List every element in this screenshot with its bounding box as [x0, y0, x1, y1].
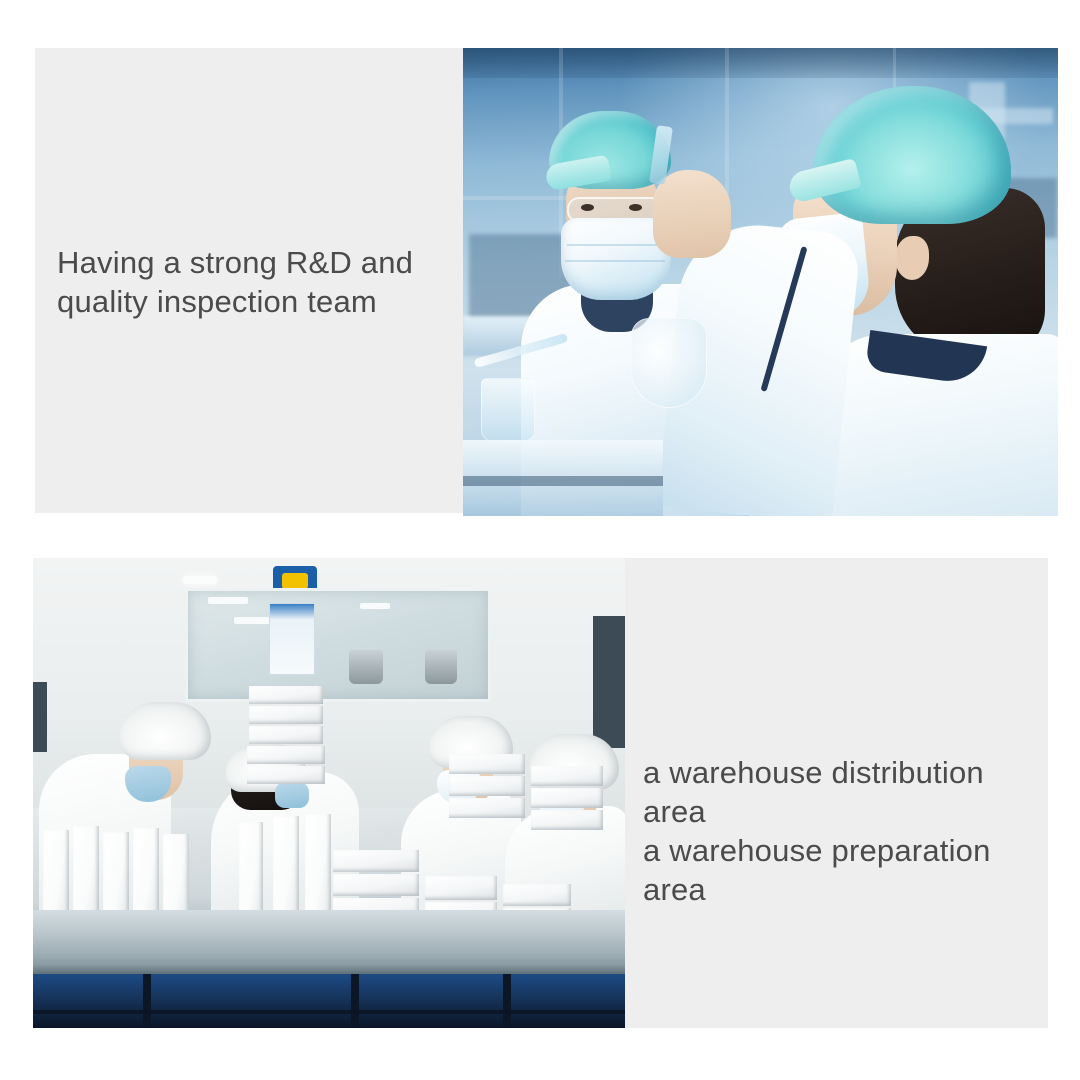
interior-window: [185, 588, 491, 702]
steel-container: [349, 650, 383, 684]
warehouse-caption: a warehouse distribution area a warehous…: [643, 753, 1043, 909]
packing-box: [531, 810, 603, 830]
window-light: [208, 597, 248, 604]
worker-hairnet: [119, 702, 211, 760]
packing-box: [449, 776, 525, 796]
steel-work-table: [33, 910, 625, 972]
worker-b-ear: [895, 236, 929, 280]
ceiling-light: [183, 576, 217, 584]
mask-fold: [567, 244, 663, 246]
notice-board: [269, 603, 315, 675]
gloved-hand: [653, 170, 731, 258]
worker-face-mask: [275, 782, 309, 808]
wall-panel-dark: [33, 682, 47, 752]
steel-container: [425, 650, 457, 684]
glass-beaker: [481, 378, 535, 442]
packing-box: [247, 746, 325, 764]
packing-box: [425, 876, 497, 900]
warehouse-packing-photo: [33, 558, 625, 1028]
lab-quality-inspection-photo: [463, 48, 1058, 516]
packing-box: [503, 884, 571, 906]
table-leg: [503, 974, 511, 1028]
lab-ceiling-band: [463, 48, 1058, 78]
packing-box: [249, 706, 323, 724]
lab-bench-edge: [463, 476, 663, 486]
packing-box: [531, 766, 603, 786]
worker-a-eye: [629, 204, 642, 211]
window-light: [234, 617, 270, 624]
table-leg: [351, 974, 359, 1028]
mask-fold: [565, 260, 665, 262]
packing-box: [247, 766, 325, 784]
wall-panel-dark: [593, 616, 625, 748]
window-light: [360, 603, 390, 609]
packing-box: [333, 874, 419, 896]
packing-box: [449, 798, 525, 818]
glass-flask: [631, 318, 707, 408]
table-leg: [143, 974, 151, 1028]
packing-box: [531, 788, 603, 808]
table-rail: [33, 1010, 625, 1014]
rnd-caption: Having a strong R&D and quality inspecti…: [57, 243, 457, 321]
packing-box: [333, 850, 419, 872]
packing-box: [249, 726, 323, 744]
packing-box: [449, 754, 525, 774]
worker-a-eye: [581, 204, 594, 211]
table-under-shadow: [33, 974, 625, 1028]
packing-box: [249, 686, 323, 704]
